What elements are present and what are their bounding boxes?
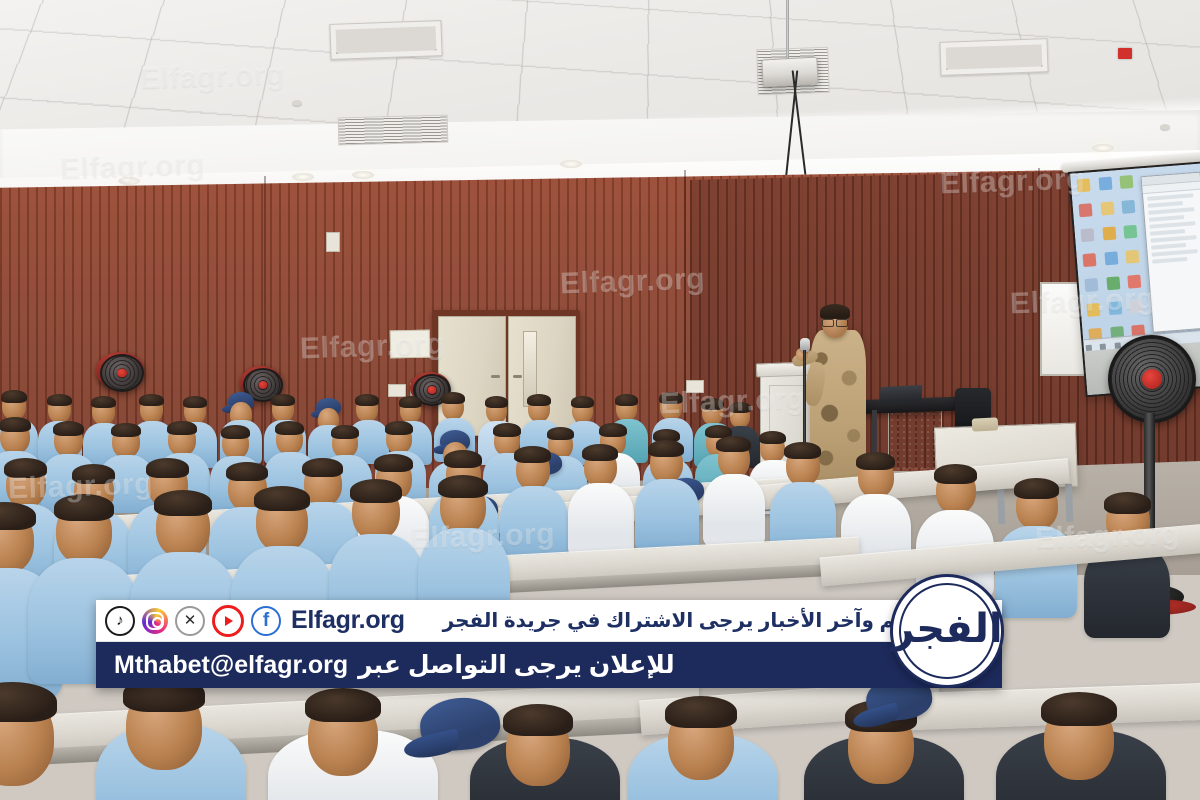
ceiling-projector — [761, 57, 818, 88]
watermark-text: Elfagr.org — [59, 147, 205, 186]
facebook-glyph: f — [263, 611, 269, 630]
explorer-row[interactable] — [1147, 193, 1194, 201]
desktop-app-icon — [1124, 225, 1138, 239]
explorer-row[interactable] — [1149, 221, 1196, 229]
explorer-row[interactable] — [1148, 201, 1183, 208]
fan-hub — [1142, 369, 1162, 389]
smoke-detector-icon — [1160, 124, 1170, 130]
downlight — [560, 160, 582, 168]
desktop-icons-group — [1077, 174, 1152, 348]
explorer-row[interactable] — [1152, 249, 1199, 257]
watermark-text: Elfagr.org — [409, 517, 555, 556]
x-icon[interactable]: ✕ — [175, 606, 205, 636]
wall-switch[interactable] — [326, 232, 340, 252]
explorer-row[interactable] — [1151, 243, 1186, 250]
desktop-file-icon — [1122, 200, 1136, 214]
instagram-icon[interactable] — [142, 608, 168, 634]
contact-email[interactable]: Mthabet@elfagr.org — [114, 651, 348, 680]
watermark-text: Elfagr.org — [659, 382, 805, 421]
officer-hair — [820, 304, 850, 319]
watermark-text: Elfagr.org — [139, 57, 285, 96]
watermark-text: Elfagr.org — [7, 467, 153, 506]
watermark-text: Elfagr.org — [559, 262, 705, 301]
x-glyph: ✕ — [184, 613, 197, 628]
wall-air-vent — [338, 115, 449, 146]
downlight — [292, 173, 314, 181]
fan-head — [1108, 335, 1196, 423]
elfagr-promo-banner: ♪ ✕ f Elfagr.org لمتابعة أهم وآخر الأخبا… — [96, 600, 1002, 688]
downlight — [1092, 144, 1114, 152]
banner-advertise-text: للإعلان يرجى التواصل عبر — [358, 650, 675, 680]
desktop-folder-icon — [1126, 250, 1140, 264]
desktop-app-icon — [1082, 253, 1096, 267]
desk-leg — [1065, 484, 1073, 522]
explorer-row[interactable] — [1150, 235, 1197, 243]
tiktok-icon[interactable]: ♪ — [105, 606, 135, 636]
wall-socket — [388, 384, 406, 397]
brand-url[interactable]: Elfagr.org — [291, 606, 405, 635]
downlight — [352, 171, 374, 179]
desktop-file-icon — [1098, 177, 1112, 191]
watermark-text: Elfagr.org — [299, 327, 445, 366]
paper-bundle — [972, 417, 999, 431]
explorer-row[interactable] — [1152, 257, 1187, 264]
ac-diffuser — [939, 38, 1048, 76]
explorer-row[interactable] — [1148, 207, 1195, 215]
desktop-file-icon — [1104, 251, 1118, 265]
fan-hub — [117, 369, 127, 378]
laptop[interactable] — [880, 385, 923, 403]
banner-contact-row: للإعلان يرجى التواصل عبر Mthabet@elfagr.… — [96, 642, 1002, 688]
facebook-icon[interactable]: f — [251, 606, 281, 636]
desk-leg — [997, 486, 1005, 524]
fan-hub — [428, 386, 437, 394]
tiktok-glyph: ♪ — [116, 613, 124, 628]
desktop-folder-icon — [1102, 226, 1116, 240]
desktop-app-icon — [1081, 228, 1095, 242]
elfagr-logo[interactable]: الفجر — [890, 574, 1004, 688]
youtube-icon[interactable] — [212, 605, 244, 637]
fan-hub — [259, 381, 268, 389]
fire-alarm-icon — [1118, 48, 1132, 59]
door-handle[interactable] — [491, 375, 500, 378]
watermark-text: Elfagr.org — [939, 162, 1085, 201]
ac-diffuser — [329, 20, 442, 60]
smoke-detector-icon — [292, 100, 302, 106]
desktop-folder-icon — [1100, 202, 1114, 216]
fan-head — [100, 354, 144, 392]
desktop-app-icon — [1120, 175, 1134, 189]
door-handle[interactable] — [513, 375, 522, 378]
logo-text: الفجر — [891, 609, 1002, 649]
pedestal-fan-right[interactable] — [1108, 335, 1196, 423]
explorer-row[interactable] — [1150, 229, 1185, 236]
photo-canvas: Elfagr.orgElfagr.orgElfagr.orgElfagr.org… — [0, 0, 1200, 800]
banner-social-row: ♪ ✕ f Elfagr.org لمتابعة أهم وآخر الأخبا… — [96, 600, 1002, 642]
desktop-app-icon — [1079, 203, 1093, 217]
watermark-text: Elfagr.org — [1009, 282, 1155, 321]
eyeglasses-icon — [822, 318, 848, 325]
watermark-text: Elfagr.org — [1034, 517, 1180, 556]
explorer-row[interactable] — [1149, 215, 1184, 222]
projector-mount-rod — [786, 0, 789, 62]
